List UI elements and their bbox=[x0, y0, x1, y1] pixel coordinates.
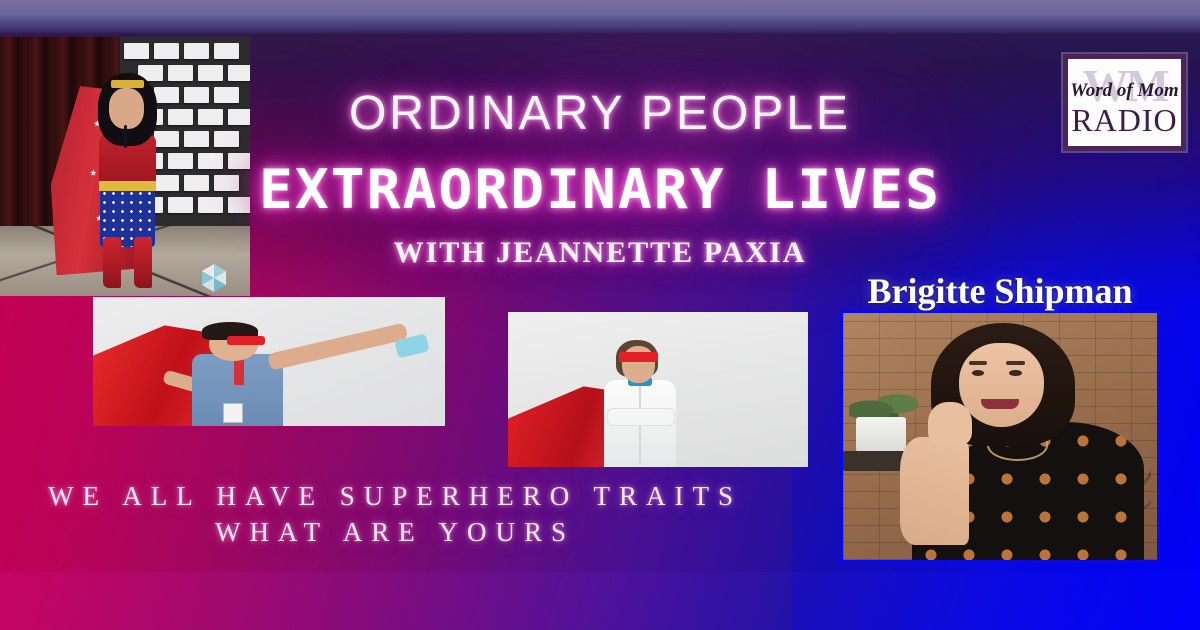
face bbox=[959, 343, 1044, 427]
cape-tie bbox=[234, 359, 245, 385]
red-eye-mask bbox=[227, 336, 266, 345]
show-title-line2: EXTRAORDINARY LIVES bbox=[0, 158, 1200, 221]
show-title-line1: ORDINARY PEOPLE bbox=[0, 86, 1200, 141]
red-eye-mask bbox=[619, 352, 658, 361]
guest-name-label: Brigitte Shipman bbox=[820, 270, 1180, 312]
eyebrow-right bbox=[1006, 361, 1025, 365]
guest-portrait-photo bbox=[840, 310, 1160, 563]
host-credit: WITH JEANNETTE PAXIA bbox=[0, 236, 1200, 270]
id-badge bbox=[223, 403, 243, 423]
promo-graphic: WM Word of Mom RADIO ORDINARY PEOPLE EXT… bbox=[0, 0, 1200, 630]
eyebrow-left bbox=[969, 361, 988, 365]
crossed-arms bbox=[607, 408, 675, 426]
plant-pot bbox=[856, 417, 906, 457]
tagline-line1: WE ALL HAVE SUPERHERO TRAITS bbox=[0, 478, 790, 514]
tagline-line2: WHAT ARE YOURS bbox=[0, 514, 790, 550]
nurse-superhero-photo bbox=[93, 297, 445, 426]
hand bbox=[928, 402, 972, 446]
smile bbox=[981, 399, 1019, 409]
tagline: WE ALL HAVE SUPERHERO TRAITS WHAT ARE YO… bbox=[0, 478, 790, 551]
forearm bbox=[900, 437, 969, 546]
background-top-band bbox=[0, 0, 1200, 34]
doctor-superhero-photo bbox=[508, 312, 808, 467]
background-bottom-band bbox=[0, 572, 1200, 630]
